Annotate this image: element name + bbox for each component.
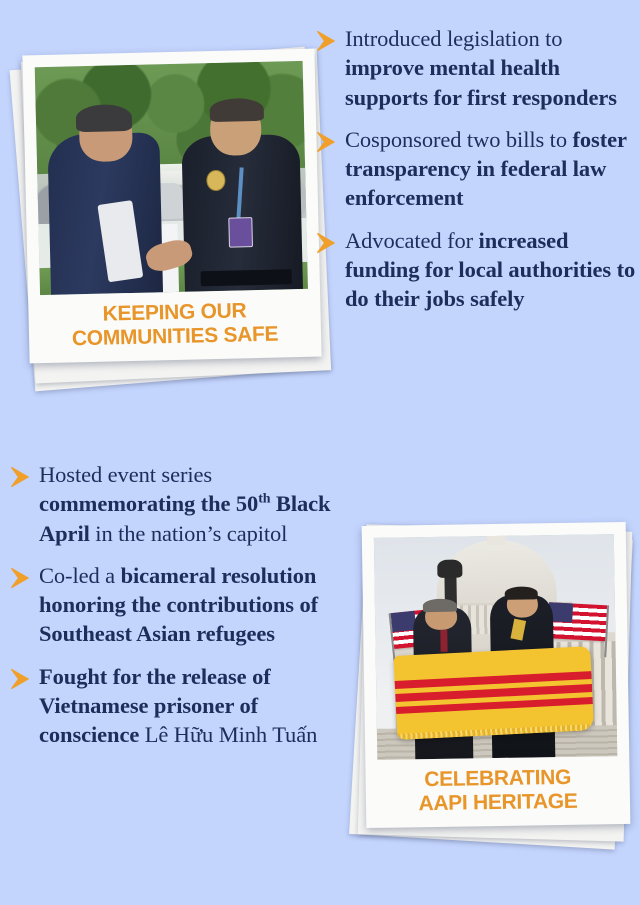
caption-communities: KEEPING OUR COMMUNITIES SAFE [40, 289, 309, 355]
photo-officer-badge [206, 170, 225, 191]
bullet-text: Co-led a bicameral resolution honoring t… [39, 561, 348, 649]
photo-card-communities: KEEPING OUR COMMUNITIES SAFE [26, 52, 326, 360]
bullet-prisoner-of-conscience: Fought for the release of Vietnamese pri… [8, 662, 348, 750]
photo-man-right-hair [504, 586, 538, 600]
bullet-bicameral-resolution: Co-led a bicameral resolution honoring t… [8, 561, 348, 649]
bullet-text-segment: Introduced legislation to [345, 26, 562, 51]
bullet-text: Introduced legislation to improve mental… [345, 24, 640, 112]
bullet-text-segment: Advocated for [345, 228, 479, 253]
infographic-canvas: KEEPING OUR COMMUNITIES SAFE Introduced … [0, 0, 640, 905]
bullet-text-segment: Co-led a [39, 563, 121, 588]
photo-vietnamese-heritage-flag [393, 647, 594, 741]
bullet-text: Advocated for increased funding for loca… [345, 226, 640, 314]
bullet-text-segment: in the nation’s capitol [90, 521, 288, 546]
photo-officer-credential [229, 217, 254, 247]
bullet-text-segment: th [258, 492, 270, 507]
bullet-text-segment: Cosponsored two bills to [345, 127, 573, 152]
bullet-text-segment: Lê Hữu Minh Tuấn [139, 722, 317, 747]
chevron-right-icon [314, 28, 340, 58]
bullet-text-segment: commemorating the 50 [39, 491, 258, 516]
bullet-black-april: Hosted event series commemorating the 50… [8, 460, 348, 548]
caption-line: COMMUNITIES SAFE [43, 321, 307, 351]
bullet-text-segment: improve mental health supports for first… [345, 55, 617, 109]
photo-man-left-hair [423, 599, 457, 613]
bullet-text: Fought for the release of Vietnamese pri… [39, 662, 348, 750]
caption-aapi: CELEBRATING AAPI HERITAGE [377, 756, 618, 820]
bullet-transparency: Cosponsored two bills to foster transpar… [314, 125, 640, 213]
photo-congressman-hair [76, 104, 133, 133]
chevron-right-icon [314, 230, 340, 260]
photo-aapi [374, 534, 617, 760]
photo-card-aapi: CELEBRATING AAPI HERITAGE [364, 524, 636, 826]
bullet-list-aapi-advocacy: Hosted event series commemorating the 50… [8, 460, 348, 762]
photo-officer-belt [200, 269, 291, 287]
caption-line: AAPI HERITAGE [380, 789, 616, 816]
bullet-local-funding: Advocated for increased funding for loca… [314, 226, 640, 314]
chevron-right-icon [8, 464, 34, 494]
bullet-text-segment: Hosted event series [39, 462, 212, 487]
photo-us-flag-right [547, 602, 606, 641]
photo-communities [35, 61, 308, 295]
chevron-right-icon [314, 129, 340, 159]
bullet-mental-health: Introduced legislation to improve mental… [314, 24, 640, 112]
bullet-text: Cosponsored two bills to foster transpar… [345, 125, 640, 213]
polaroid-frame-communities: KEEPING OUR COMMUNITIES SAFE [22, 49, 321, 364]
photo-officer-hair [210, 98, 264, 122]
photo-man-left-tie [440, 630, 448, 652]
chevron-right-icon [8, 666, 34, 696]
polaroid-frame-aapi: CELEBRATING AAPI HERITAGE [362, 522, 631, 828]
bullet-text: Hosted event series commemorating the 50… [39, 460, 348, 548]
bullet-list-public-safety: Introduced legislation to improve mental… [314, 24, 640, 326]
photo-officer-uniform [181, 134, 303, 292]
chevron-right-icon [8, 565, 34, 595]
